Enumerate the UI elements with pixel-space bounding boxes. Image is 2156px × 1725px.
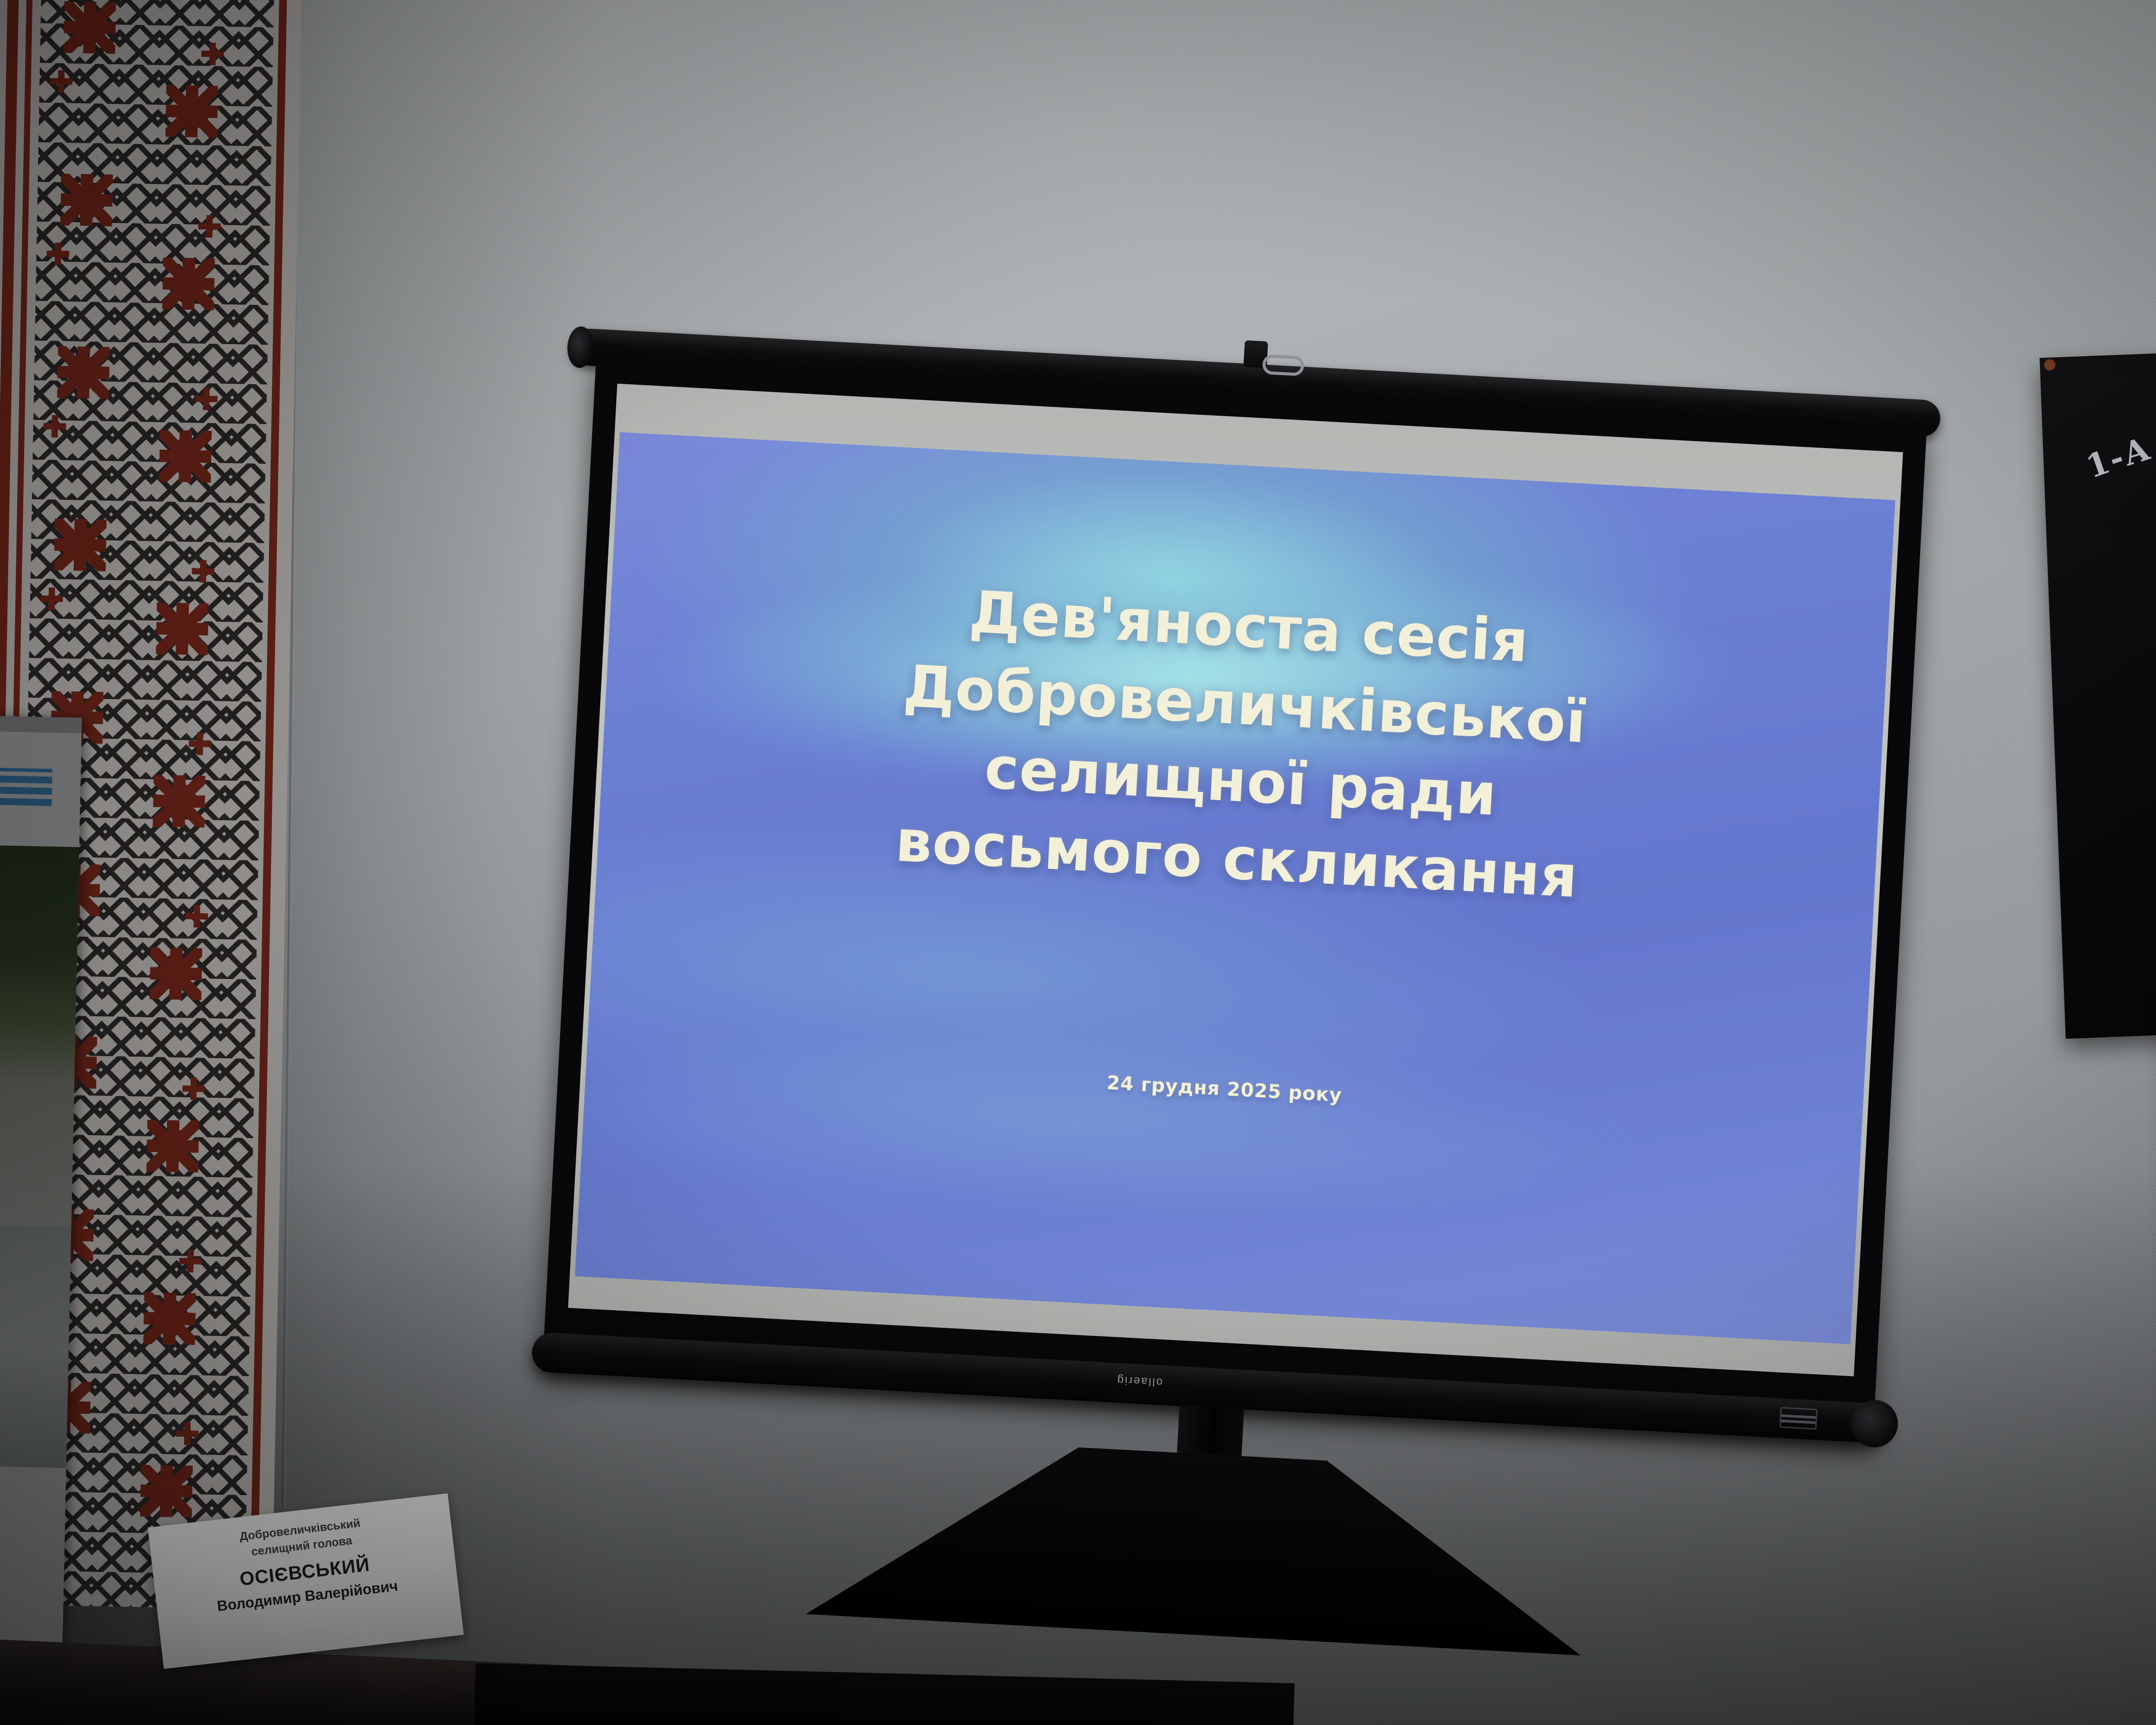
rollup-banner-logo <box>0 768 52 806</box>
rollup-banner-photo-upper <box>0 845 79 1226</box>
embroidery-cross <box>201 43 224 66</box>
embroidery-rosette <box>60 174 113 226</box>
embroidery-cross <box>40 587 63 610</box>
projection-screen-assembly: Дев'яноста сесія Добровеличківської сели… <box>511 298 2106 1559</box>
embroidery-rosette <box>159 430 212 483</box>
projection-screen: Дев'яноста сесія Добровеличківської сели… <box>542 359 1927 1442</box>
screen-manufacturer-badge-icon <box>1780 1407 1818 1430</box>
embroidery-rosette <box>162 257 215 310</box>
embroidery-cross <box>195 387 218 410</box>
embroidery-rosette <box>63 1 116 54</box>
embroidery-rosette <box>54 519 107 571</box>
rollup-banner-caption <box>0 1488 61 1490</box>
embroidery-rosette <box>147 1120 199 1173</box>
embroidery-rosette <box>156 602 209 655</box>
embroidery-cross <box>47 242 69 265</box>
embroidery-cross <box>198 215 221 238</box>
embroidery-cross <box>188 732 211 755</box>
screen-brand-label: ollaerig <box>1116 1374 1163 1389</box>
embroidery-cross <box>50 70 72 93</box>
rollup-banner-top-rail <box>0 716 82 733</box>
embroidery-cross <box>44 415 66 438</box>
embroidery-rosette <box>150 947 202 1000</box>
photo-scene: Дев'яноста сесія Добровеличківської сели… <box>0 0 2156 1725</box>
embroidery-cross <box>192 560 215 583</box>
slide-lower-glow <box>575 966 1895 1300</box>
embroidery-rosette <box>57 346 110 399</box>
embroidery-cross <box>182 1077 205 1100</box>
projected-slide: Дев'яноста сесія Добровеличківської сели… <box>575 432 1895 1344</box>
black-flag-unit-text: 1-А ГРУПА СПП 73 МЦ СО <box>2079 373 2156 486</box>
screen-mount-ring <box>1262 354 1304 376</box>
embroidery-cross <box>185 905 208 928</box>
embroidery-rosette <box>166 85 218 138</box>
embroidery-rosette <box>153 775 205 828</box>
rollup-banner-photo-lower <box>0 1225 71 1468</box>
screen-white-surface: Дев'яноста сесія Добровеличківської сели… <box>568 384 1903 1377</box>
embroidery-cross <box>179 1250 202 1273</box>
embroidery-rosette <box>143 1292 196 1345</box>
flag-hanging-pin <box>2044 359 2056 371</box>
flag-arc-text-svg: 1-А ГРУПА СПП 73 МЦ СО <box>2041 366 2156 492</box>
embroidery-cross <box>176 1422 199 1445</box>
embroidery-rosette <box>140 1465 193 1518</box>
